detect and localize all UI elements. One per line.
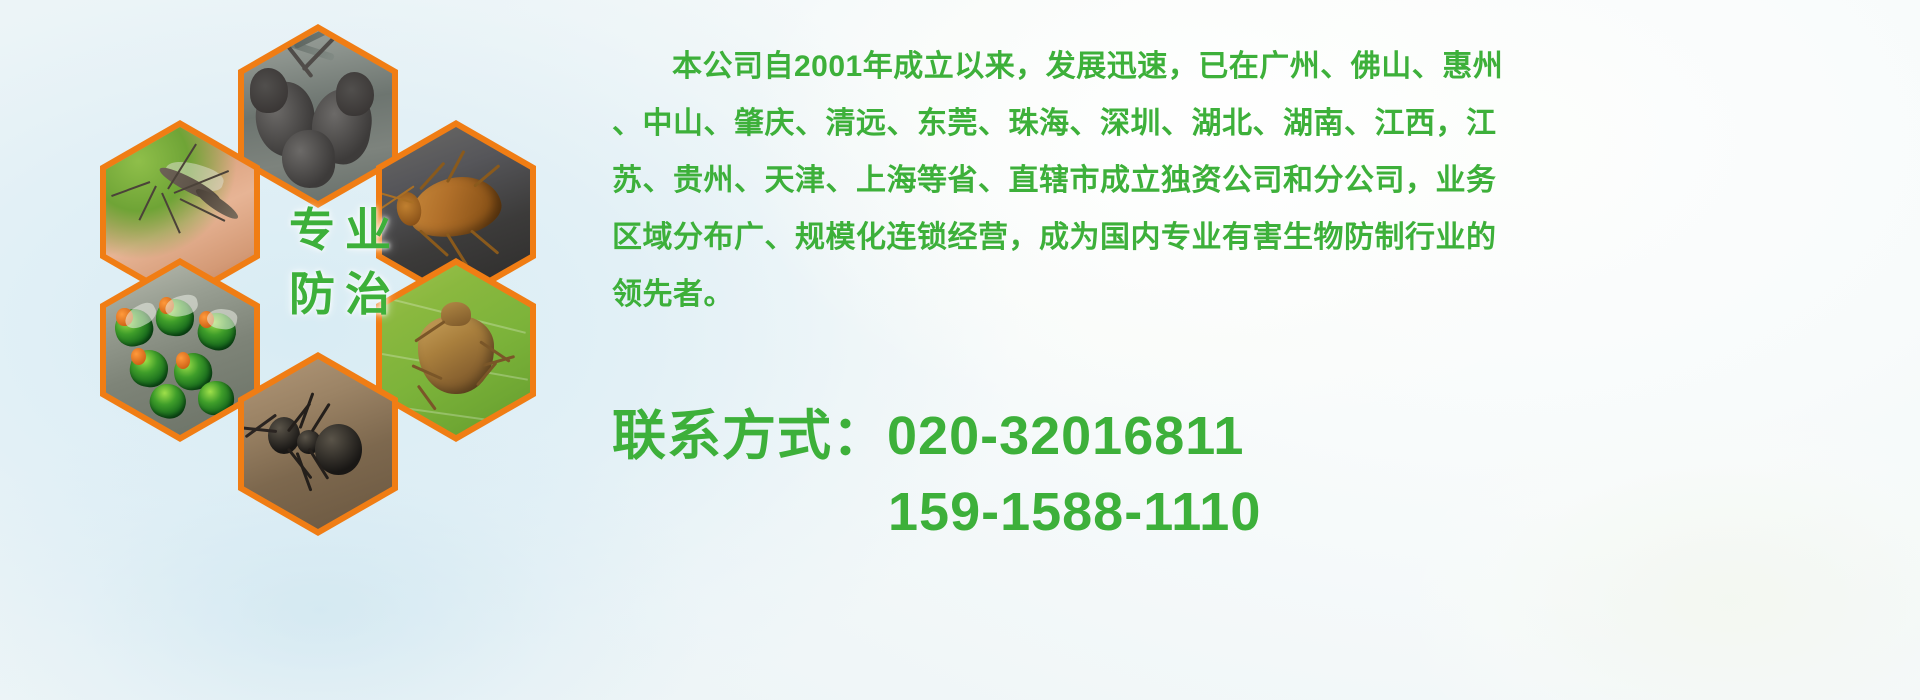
- contact-phone-primary[interactable]: 联系方式：020-32016811: [612, 398, 1912, 474]
- contact-phone-secondary[interactable]: 159-1588-1110: [612, 474, 1912, 550]
- honeycomb-photo-cluster: 专业 防治: [92, 10, 592, 570]
- about-line-4: 区域分布广、规模化连锁经营，成为国内专业有害生物防制行业的: [612, 209, 1912, 266]
- about-line-2: 、中山、肇庆、清远、东莞、珠海、深圳、湖北、湖南、江西，江: [612, 95, 1912, 152]
- about-line-1: 本公司自2001年成立以来，发展迅速，已在广州、佛山、惠州: [612, 38, 1912, 95]
- about-line-3: 苏、贵州、天津、上海等省、直辖市成立独资公司和分公司，业务: [612, 152, 1912, 209]
- hex-photo-rodents-rats[interactable]: [238, 24, 398, 208]
- hex-photo-green-bottle-flies[interactable]: [100, 258, 260, 442]
- about-line-5: 领先者。: [612, 266, 1912, 323]
- about-paragraph: 本公司自2001年成立以来，发展迅速，已在广州、佛山、惠州 、中山、肇庆、清远、…: [612, 38, 1912, 323]
- hex-photo-ant[interactable]: [238, 352, 398, 536]
- pest-control-banner: 专业 防治 本公司自2001年成立以来，发展迅速，已在广州、佛山、惠州 、中山、…: [0, 0, 1920, 700]
- hex-photo-stink-bug[interactable]: [376, 258, 536, 442]
- contact-block: 联系方式：020-32016811 159-1588-1110: [612, 398, 1912, 550]
